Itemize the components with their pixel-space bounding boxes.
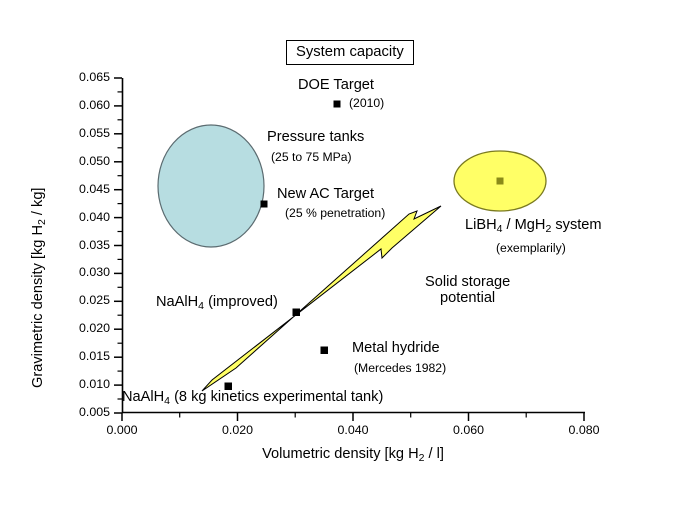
doe-target-label: DOE Target <box>298 77 374 93</box>
annotation-metal-hydride-note: (Mercedes 1982) <box>354 361 446 375</box>
data-point-naalh4-improved <box>293 309 301 317</box>
naalh4-8kg-label: NaAlH4 (8 kg kinetics experimental tank) <box>122 389 383 407</box>
annotation-pressure-tanks-note: (25 to 75 MPa) <box>271 150 352 164</box>
x-tick-label-0.000: 0.000 <box>106 424 137 438</box>
data-point-doe-target <box>334 101 341 108</box>
y-tick-label-0.040: 0.040 <box>47 211 110 225</box>
annotation-metal-hydride: Metal hydride <box>352 340 440 356</box>
solid-storage-line2: potential <box>425 290 510 306</box>
data-point-new-ac-target <box>261 201 268 208</box>
chart-title: System capacity <box>296 44 404 60</box>
annotation-naalh4-improved: NaAlH4 (improved) <box>156 294 278 312</box>
y-axis-title-post: / kg] <box>30 188 46 220</box>
chart-figure: System capacity 0.065 0.060 0.055 0.050 … <box>0 0 680 510</box>
naalh4-improved-pre: NaAlH <box>156 294 198 310</box>
annotation-libh4-mgh2-note: (exemplarily) <box>496 241 566 255</box>
annotation-new-ac-target-note: (25 % penetration) <box>285 206 385 220</box>
x-axis-major-ticks <box>122 413 584 421</box>
libh4-mid: / MgH <box>502 217 545 233</box>
y-tick-label-0.050: 0.050 <box>47 155 110 169</box>
libh4-post: system <box>551 217 601 233</box>
annotation-pressure-tanks: Pressure tanks <box>267 129 364 145</box>
x-tick-label-0.060: 0.060 <box>453 424 484 438</box>
metal-hydride-note: (Mercedes 1982) <box>354 361 446 375</box>
doe-target-note: (2010) <box>349 96 384 110</box>
x-tick-label-0.020: 0.020 <box>222 424 253 438</box>
chart-title-box: System capacity <box>286 40 414 65</box>
naalh4-improved-label: NaAlH4 (improved) <box>156 294 278 312</box>
x-axis-title-post: / l] <box>424 446 443 462</box>
y-tick-label-0.020: 0.020 <box>47 322 110 336</box>
annotation-solid-storage: Solid storage potential <box>425 274 510 306</box>
metal-hydride-label: Metal hydride <box>352 340 440 356</box>
libh4-mgh2-note: (exemplarily) <box>496 241 566 255</box>
libh4-mgh2-label: LiBH4 / MgH2 system <box>465 217 602 235</box>
annotation-libh4-mgh2: LiBH4 / MgH2 system <box>465 217 602 235</box>
x-axis-title-pre: Volumetric density [kg H <box>262 446 419 462</box>
y-tick-label-0.060: 0.060 <box>47 99 110 113</box>
annotation-naalh4-8kg: NaAlH4 (8 kg kinetics experimental tank) <box>122 389 383 407</box>
x-tick-label-0.040: 0.040 <box>337 424 368 438</box>
data-point-libh4-mgh2 <box>497 178 504 185</box>
solid-storage-line1: Solid storage <box>425 274 510 290</box>
y-axis-major-ticks <box>114 78 122 413</box>
new-ac-target-note: (25 % penetration) <box>285 206 385 220</box>
y-tick-label-0.035: 0.035 <box>47 239 110 253</box>
annotation-doe-target: DOE Target <box>298 77 374 93</box>
pressure-tanks-note: (25 to 75 MPa) <box>271 150 352 164</box>
y-axis-title: Gravimetric density [kg H2 / kg] <box>30 188 49 389</box>
y-tick-label-0.030: 0.030 <box>47 266 110 280</box>
annotation-new-ac-target: New AC Target <box>277 186 374 202</box>
annotation-doe-target-note: (2010) <box>349 96 384 110</box>
y-tick-label-0.015: 0.015 <box>47 350 110 364</box>
x-axis-title: Volumetric density [kg H2 / l] <box>262 446 444 465</box>
y-axis-title-subscript: 2 <box>36 219 48 225</box>
y-tick-label-0.065: 0.065 <box>47 71 110 85</box>
naalh4-improved-post: (improved) <box>204 294 278 310</box>
y-axis-title-pre: Gravimetric density [kg H <box>30 225 46 388</box>
data-point-metal-hydride <box>321 347 329 355</box>
y-tick-label-0.045: 0.045 <box>47 183 110 197</box>
pressure-tanks-label: Pressure tanks <box>267 129 364 145</box>
new-ac-target-label: New AC Target <box>277 186 374 202</box>
pressure-tanks-ellipse <box>158 125 264 247</box>
x-tick-label-0.080: 0.080 <box>568 424 599 438</box>
y-tick-label-0.055: 0.055 <box>47 127 110 141</box>
y-tick-label-0.005: 0.005 <box>47 406 110 420</box>
libh4-pre: LiBH <box>465 217 497 233</box>
naalh4-8kg-post: (8 kg kinetics experimental tank) <box>170 389 383 405</box>
naalh4-8kg-pre: NaAlH <box>122 389 164 405</box>
y-tick-label-0.025: 0.025 <box>47 294 110 308</box>
y-tick-label-0.010: 0.010 <box>47 378 110 392</box>
